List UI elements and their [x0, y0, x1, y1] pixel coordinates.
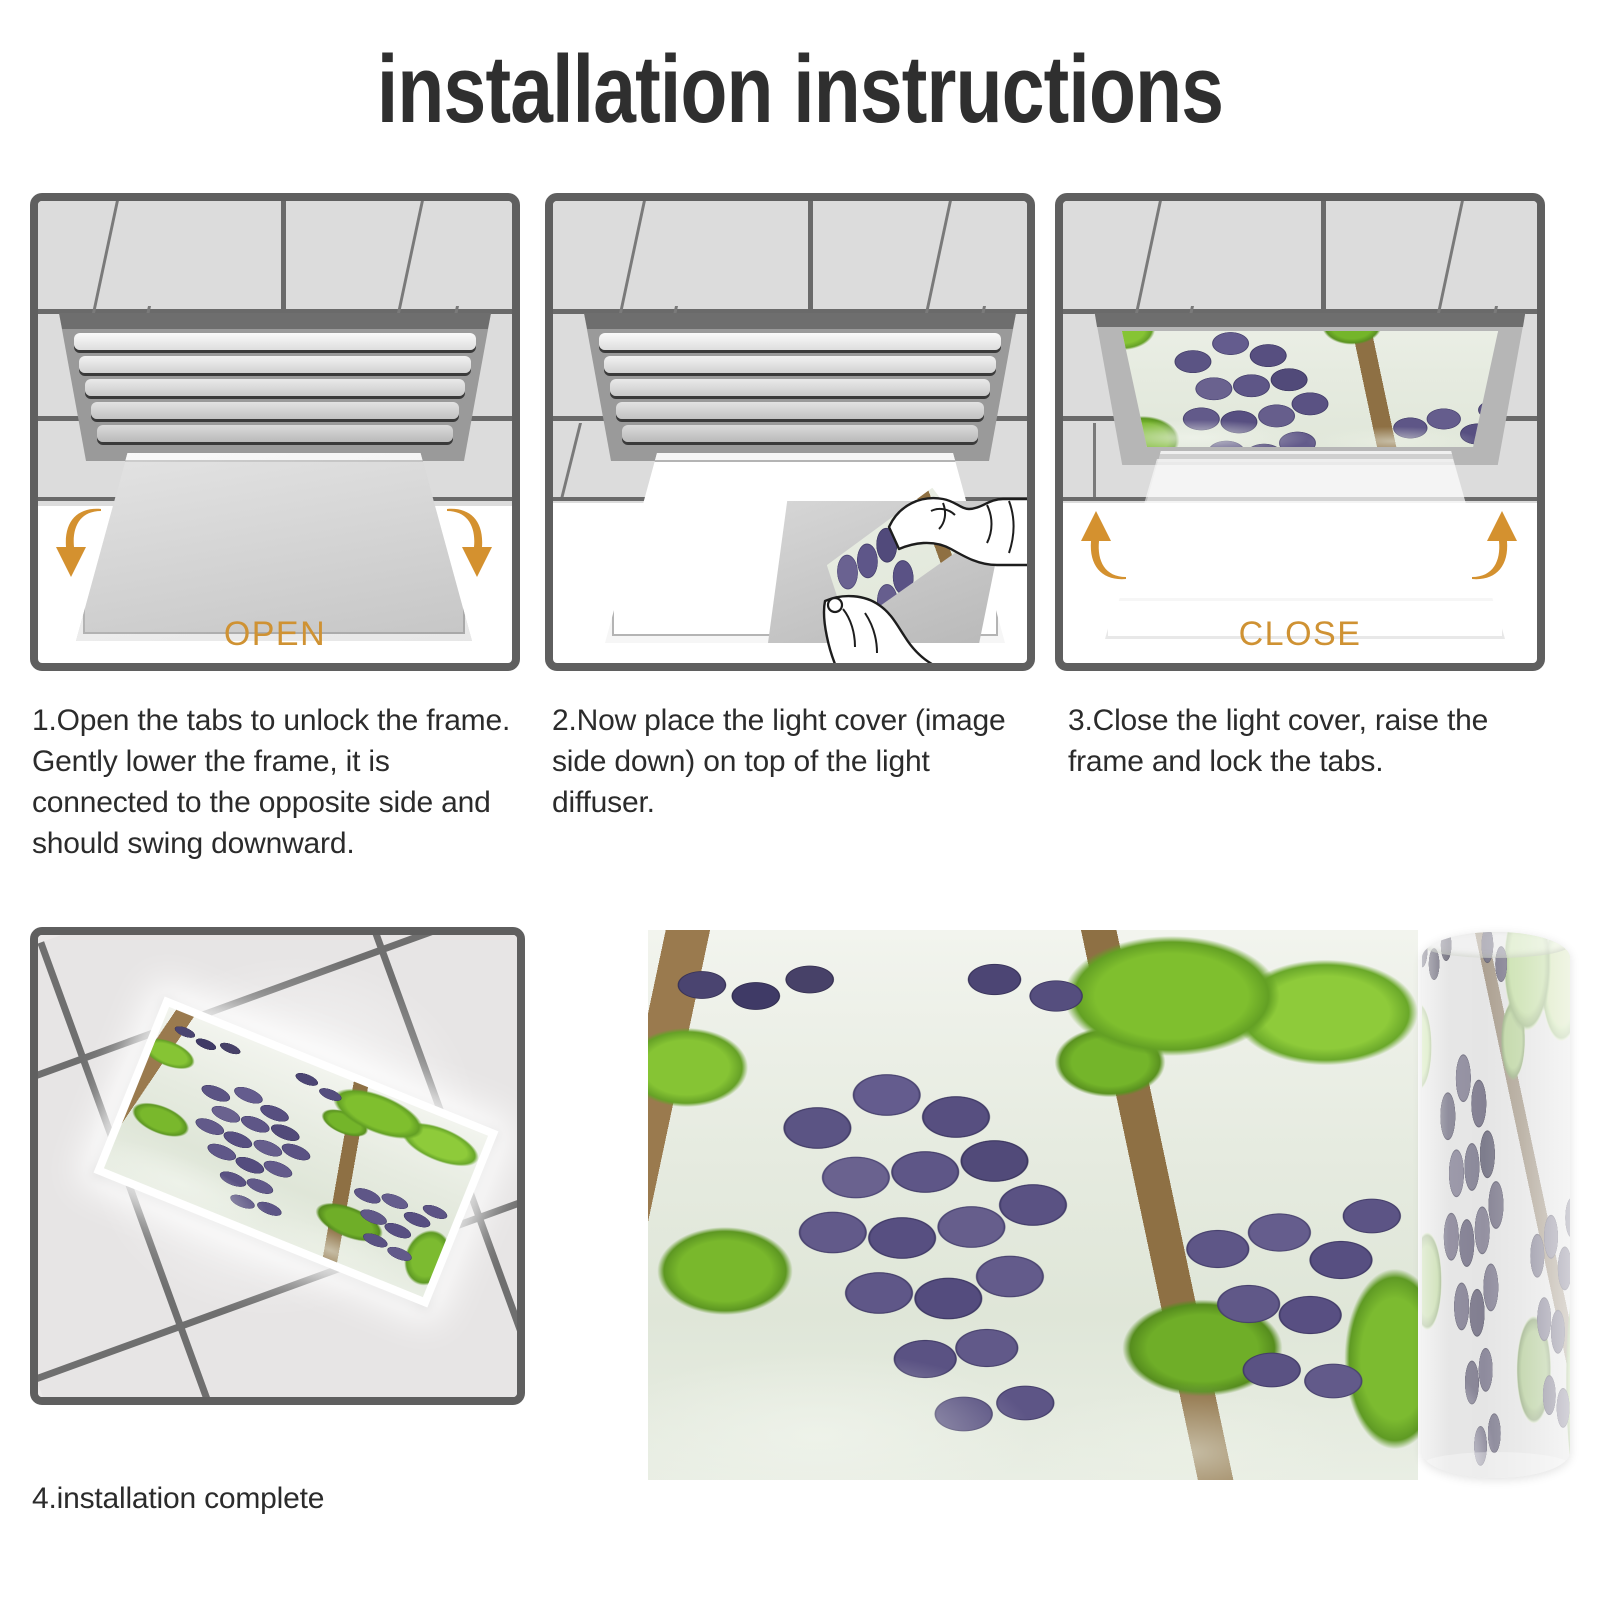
grape-vine-photo: [648, 930, 1418, 1480]
film-roll-icon: [1422, 932, 1570, 1478]
light-diffuser-louver-icon: [587, 331, 1013, 453]
roll-bottom-edge: [1422, 1452, 1570, 1478]
step-3-caption: 3.Close the light cover, raise the frame…: [1068, 700, 1568, 782]
step-4-scene: [38, 935, 517, 1397]
arrow-down-right-icon: [430, 505, 492, 583]
step-3-scene: CLOSE: [1063, 201, 1537, 663]
step-4-illustration-panel: [30, 927, 525, 1405]
step-1-scene: OPEN: [38, 201, 512, 663]
step-2-scene: [553, 201, 1027, 663]
hinged-frame-ghost-2: [1115, 451, 1497, 601]
hand-icon: [817, 579, 967, 663]
step-3-panel-label: CLOSE: [1063, 615, 1537, 654]
step-2-illustration-panel: [545, 193, 1035, 671]
fixture-top-rail: [50, 313, 500, 329]
roll-top-edge: [1422, 932, 1570, 958]
installed-grape-light-cover: [1101, 331, 1519, 447]
light-diffuser-louver-icon: [62, 331, 488, 453]
step-4-caption: 4.installation complete: [32, 1478, 532, 1519]
page-title: installation instructions: [160, 38, 1440, 142]
arrow-down-left-icon: [56, 505, 118, 583]
arrow-up-right-icon: [1455, 505, 1517, 583]
roll-cylinder-sheen: [1422, 932, 1570, 1478]
fixture-top-rail: [1081, 313, 1537, 327]
product-photo: [648, 930, 1418, 1480]
step-1-caption: 1.Open the tabs to unlock the frame. Gen…: [32, 700, 524, 864]
step-3-illustration-panel: CLOSE: [1055, 193, 1545, 671]
step-1-illustration-panel: OPEN: [30, 193, 520, 671]
step-2-caption: 2.Now place the light cover (image side …: [552, 700, 1022, 823]
fixture-top-rail: [575, 313, 1025, 329]
arrow-up-left-icon: [1081, 505, 1143, 583]
hand-icon: [869, 469, 1027, 589]
frame-sheen: [76, 453, 472, 641]
step-1-panel-label: OPEN: [38, 615, 512, 654]
